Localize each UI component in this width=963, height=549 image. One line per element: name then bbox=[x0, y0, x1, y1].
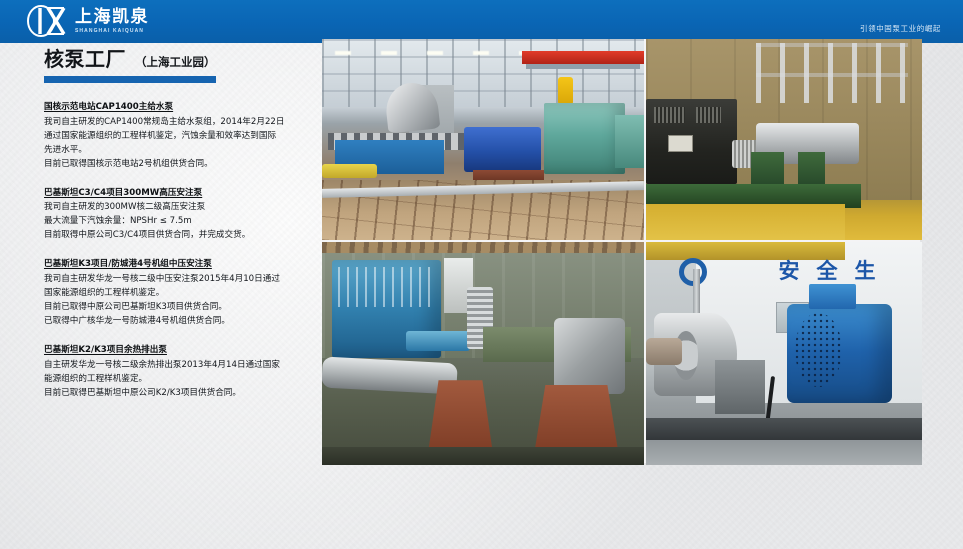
motor-shaft-housing bbox=[406, 331, 470, 351]
logo-cn-text: 上海凯泉 bbox=[75, 9, 149, 26]
project-heading: 国核示范电站CAP1400主给水泵 bbox=[44, 101, 312, 114]
photo-blue-motor-red-pedestal-pump bbox=[322, 242, 644, 465]
project-block: 国核示范电站CAP1400主给水泵 我司自主研发的CAP1400常规岛主给水泵组… bbox=[44, 101, 312, 172]
ground-floor bbox=[646, 440, 922, 465]
green-pedestal bbox=[751, 152, 784, 186]
wall-slogan-text: 安全生 bbox=[778, 255, 892, 285]
steel-base-frame bbox=[646, 418, 922, 443]
project-block: 巴基斯坦K3项目/防城港4号机组中压安注泵 我司自主研发华龙一号核二级中压安注泵… bbox=[44, 258, 312, 329]
project-block: 巴基斯坦C3/C4项目300MW高压安注泵 我司自主研发的300MW核二级高压安… bbox=[44, 187, 312, 244]
project-block: 巴基斯坦K2/K3项目余热排出泵 自主研发华龙一号核二级余热排出泵2013年4月… bbox=[44, 344, 312, 401]
upper-plank-edge bbox=[322, 242, 644, 253]
page-title-sub: （上海工业园） bbox=[135, 54, 216, 70]
header-tagline: 引领中国泵工业的崛起 bbox=[860, 23, 941, 34]
project-line: 能源组织的工程样机鉴定。 bbox=[44, 373, 312, 387]
yellow-pipe bbox=[322, 164, 377, 178]
photo-workshop-feedwater-pump-test-bed bbox=[322, 39, 644, 240]
motor-terminal-box bbox=[809, 284, 856, 309]
project-line: 最大流量下汽蚀余量：NPSHr ≤ 7.5m bbox=[44, 215, 312, 229]
crane-hoist bbox=[558, 77, 573, 105]
motor-vent bbox=[696, 107, 721, 123]
teal-motor-secondary bbox=[615, 115, 644, 167]
photo-grid: 安全生 bbox=[322, 39, 920, 463]
project-line: 通过国家能源组织的工程样机鉴定，汽蚀余量和效率达到国际 bbox=[44, 130, 312, 144]
red-pedestal bbox=[535, 385, 619, 452]
slide: 上海凯泉 SHANGHAI KAIQUAN 引领中国泵工业的崛起 核泵工厂 （上… bbox=[0, 0, 963, 549]
ceiling-lights bbox=[335, 51, 535, 55]
project-heading: 巴基斯坦K2/K3项目余热排出泵 bbox=[44, 344, 312, 357]
project-line: 目前已取得中原公司巴基斯坦K3项目供货合同。 bbox=[44, 301, 312, 315]
project-line: 目前已取得巴基斯坦中原公司K2/K3项目供货合同。 bbox=[44, 387, 312, 401]
dark-floor bbox=[322, 447, 644, 465]
project-line: 国家能源组织的工程样机鉴定。 bbox=[44, 287, 312, 301]
logo-en-text: SHANGHAI KAIQUAN bbox=[75, 29, 149, 34]
green-pedestal bbox=[798, 152, 826, 186]
overhead-crane bbox=[522, 51, 644, 64]
project-heading: 巴基斯坦C3/C4项目300MW高压安注泵 bbox=[44, 187, 312, 200]
page-title: 核泵工厂 （上海工业园） bbox=[44, 43, 312, 72]
nameplate bbox=[668, 135, 693, 151]
text-column: 核泵工厂 （上海工业园） 国核示范电站CAP1400主给水泵 我司自主研发的CA… bbox=[44, 43, 312, 415]
project-line: 目前取得中原公司C3/C4项目供货合同，并完成交货。 bbox=[44, 229, 312, 243]
yellow-floor bbox=[646, 204, 845, 240]
kaiquan-logo-icon bbox=[26, 5, 68, 37]
project-line: 自主研发华龙一号核二级余热排出泵2013年4月14日通过国家 bbox=[44, 359, 312, 373]
photo-steel-pump-blue-motor-safety-wall: 安全生 bbox=[646, 242, 922, 465]
project-line: 目前已取得国核示范电站2号机组供货合同。 bbox=[44, 158, 312, 172]
brand-logo[interactable]: 上海凯泉 SHANGHAI KAIQUAN bbox=[26, 5, 149, 37]
project-heading: 巴基斯坦K3项目/防城港4号机组中压安注泵 bbox=[44, 258, 312, 271]
teal-motor bbox=[544, 103, 625, 173]
project-blocks: 国核示范电站CAP1400主给水泵 我司自主研发的CAP1400常规岛主给水泵组… bbox=[44, 101, 312, 400]
page-title-main: 核泵工厂 bbox=[44, 43, 126, 72]
photo-dark-motor-green-skid-pump bbox=[646, 39, 922, 240]
blue-pump-unit bbox=[464, 127, 541, 171]
project-line: 先进水平。 bbox=[44, 144, 312, 158]
motor-vent bbox=[654, 107, 684, 123]
project-line: 我司自主研发的300MW核二级高压安注泵 bbox=[44, 201, 312, 215]
motor-cooling-fins bbox=[338, 267, 435, 307]
pump-head bbox=[554, 318, 625, 394]
project-line: 我司自主研发的CAP1400常规岛主给水泵组，2014年2月22日 bbox=[44, 116, 312, 130]
motor-ventilation-grille bbox=[795, 313, 842, 387]
project-line: 已取得中广核华龙一号防城港4号机组供货合同。 bbox=[44, 315, 312, 329]
workshop-ceiling bbox=[322, 39, 644, 107]
suction-nozzle bbox=[646, 338, 682, 365]
header-bar: 上海凯泉 SHANGHAI KAIQUAN 引领中国泵工业的崛起 bbox=[0, 0, 963, 43]
overhead-piping bbox=[756, 43, 908, 103]
red-pedestal bbox=[428, 380, 492, 451]
project-line: 我司自主研发华龙一号核二级中压安注泵2015年4月10日通过 bbox=[44, 273, 312, 287]
pump-pedestals bbox=[715, 360, 765, 414]
title-underline-rule bbox=[44, 76, 216, 83]
